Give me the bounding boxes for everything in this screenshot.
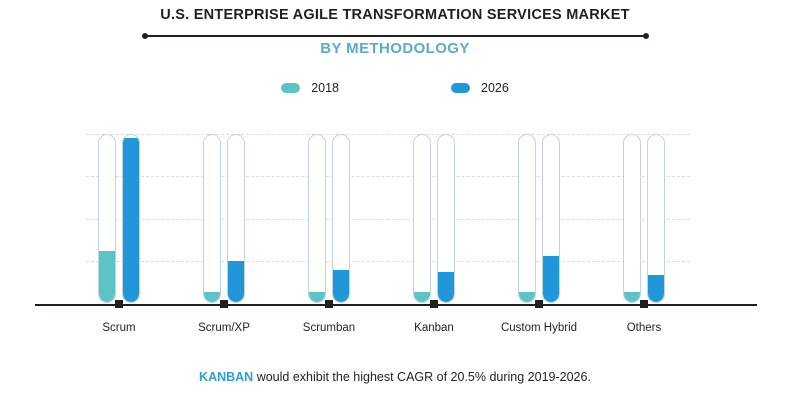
- bar-2026-custom-hybrid[interactable]: [542, 134, 560, 303]
- x-axis-label-scrum: Scrum: [102, 322, 135, 334]
- x-axis-label-others: Others: [627, 322, 662, 334]
- axis-tick: [220, 300, 228, 308]
- x-axis-label-custom-hybrid: Custom Hybrid: [501, 322, 577, 334]
- axis-tick: [325, 300, 333, 308]
- axis-tick: [115, 300, 123, 308]
- bar-fill: [438, 272, 454, 302]
- bar-fill: [648, 275, 664, 302]
- chart-canvas: U.S. ENTERPRISE AGILE TRANSFORMATION SER…: [0, 0, 790, 407]
- bar-fill: [204, 292, 220, 302]
- x-axis-label-scrumban: Scrumban: [303, 322, 355, 334]
- bar-fill: [519, 292, 535, 302]
- bar-fill: [123, 138, 139, 302]
- bar-fill: [333, 270, 349, 302]
- x-axis-label-kanban: Kanban: [414, 322, 454, 334]
- bar-2018-kanban[interactable]: [413, 134, 431, 303]
- bar-2026-scrum[interactable]: [122, 134, 140, 303]
- plot-area: ScrumScrum/XPScrumbanKanbanCustom Hybrid…: [0, 0, 790, 407]
- gridline: [86, 134, 690, 136]
- bar-fill: [99, 251, 115, 302]
- bar-2018-scrum-xp[interactable]: [203, 134, 221, 303]
- x-axis-label-scrum-xp: Scrum/XP: [198, 322, 250, 334]
- bar-fill: [414, 292, 430, 302]
- chart-annotation: KANBAN would exhibit the highest CAGR of…: [0, 370, 790, 384]
- bar-fill: [543, 256, 559, 302]
- gridline: [86, 219, 690, 221]
- bar-2018-custom-hybrid[interactable]: [518, 134, 536, 303]
- bar-2018-others[interactable]: [623, 134, 641, 303]
- bar-2026-scrumban[interactable]: [332, 134, 350, 303]
- axis-tick: [430, 300, 438, 308]
- bar-2018-scrumban[interactable]: [308, 134, 326, 303]
- bar-2026-kanban[interactable]: [437, 134, 455, 303]
- gridline: [86, 176, 690, 178]
- bar-fill: [228, 261, 244, 302]
- bar-fill: [309, 292, 325, 302]
- axis-tick: [535, 300, 543, 308]
- x-axis: [35, 304, 757, 306]
- gridline: [86, 261, 690, 263]
- axis-tick: [640, 300, 648, 308]
- bar-2026-scrum-xp[interactable]: [227, 134, 245, 303]
- bar-2026-others[interactable]: [647, 134, 665, 303]
- bar-2018-scrum[interactable]: [98, 134, 116, 303]
- annotation-text: would exhibit the highest CAGR of 20.5% …: [253, 370, 591, 384]
- bar-fill: [624, 292, 640, 302]
- annotation-highlight: KANBAN: [199, 370, 253, 384]
